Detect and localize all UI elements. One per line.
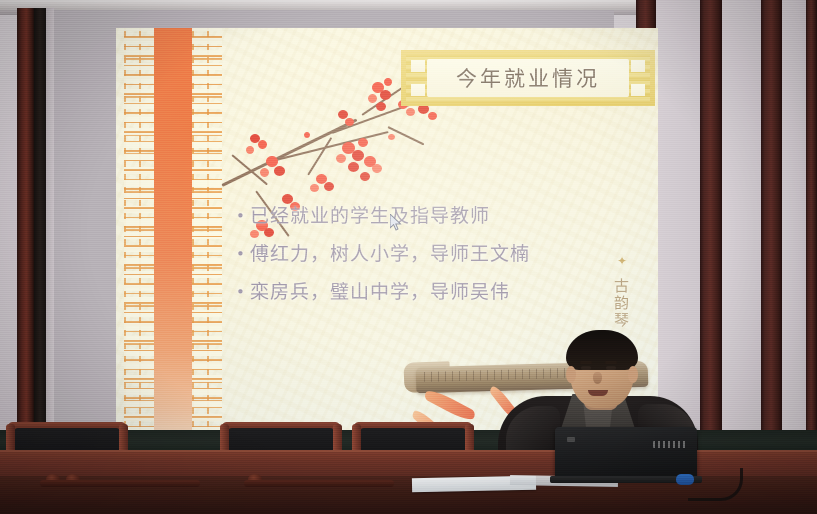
- wood-slat: [700, 0, 722, 470]
- ear: [628, 366, 638, 383]
- mouth: [588, 390, 608, 396]
- slide-title-inner: 今年就业情况: [427, 59, 629, 97]
- list-item: • 栾房兵，璧山中学，导师吴伟: [236, 276, 636, 308]
- chair-arm-rail: [244, 480, 394, 487]
- eye: [606, 366, 616, 370]
- slide-title-plaque: 今年就业情况: [401, 50, 655, 106]
- wood-slat-left: [17, 8, 34, 456]
- hair: [566, 330, 638, 370]
- orange-band: [154, 28, 192, 440]
- bullet-text: 已经就业的学生及指导教师: [250, 200, 636, 232]
- slide-border-ornament: [116, 28, 222, 440]
- cable: [688, 468, 743, 501]
- mouse-cursor-icon: [390, 214, 402, 231]
- wood-slat: [761, 0, 782, 470]
- laptop: [555, 427, 697, 479]
- screen-edge-shadow: [34, 8, 46, 456]
- ear: [566, 366, 576, 383]
- bullet-marker-icon: •: [236, 276, 250, 308]
- fretwork-hook: [124, 28, 154, 440]
- bullet-marker-icon: •: [236, 200, 250, 232]
- laptop-logo-icon: [653, 441, 687, 448]
- eye: [581, 366, 591, 370]
- eyebrow: [605, 361, 617, 364]
- bullet-marker-icon: •: [236, 238, 250, 270]
- wall-panel: [722, 0, 761, 470]
- bullet-text: 栾房兵，璧山中学，导师吴伟: [250, 276, 636, 308]
- vertical-calligraphy: ✦ 古韵琴: [610, 250, 636, 329]
- slide-title: 今年就业情况: [456, 63, 600, 93]
- wall-strip-left: [46, 8, 54, 456]
- list-item: • 已经就业的学生及指导教师: [236, 200, 636, 232]
- slide-bullet-list: • 已经就业的学生及指导教师 • 傅红力，树人小学，导师王文楠 • 栾房兵，璧山…: [236, 200, 636, 314]
- laptop-badge-icon: [567, 437, 575, 442]
- list-item: • 傅红力，树人小学，导师王文楠: [236, 238, 636, 270]
- chair-arm-rail: [40, 480, 200, 487]
- wood-slat: [806, 0, 817, 470]
- bullet-text: 傅红力，树人小学，导师王文楠: [250, 238, 636, 270]
- nose: [593, 372, 602, 384]
- photo-scene: 今年就业情况 • 已经就业的学生及指导教师 • 傅红力，树人小学，导师王文楠 •: [0, 0, 817, 514]
- calligraphy-text: 古韵琴: [610, 278, 632, 329]
- seal-mark-icon: ✦: [610, 250, 636, 272]
- eyebrow: [580, 361, 592, 364]
- wall-panel: [782, 0, 806, 470]
